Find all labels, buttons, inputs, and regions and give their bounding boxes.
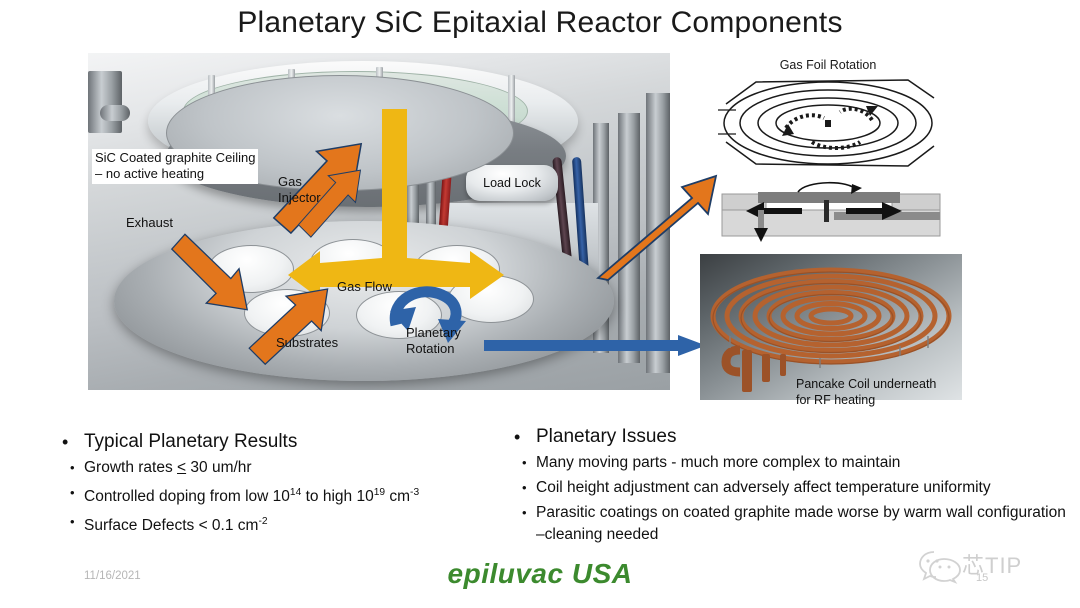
label-gas-injector-line2: Injector [278,190,321,206]
label-planetary-rotation-line2: Rotation [406,341,461,357]
pancake-coil-caption-line2: for RF heating [796,392,976,408]
bullet-heading-left: • Typical Planetary Results [60,430,500,454]
label-gas-injector: Gas Injector [278,174,321,207]
orange-arrow-substrates [244,289,354,379]
bullet-marker: • [60,457,84,479]
list-item: • Surface Defects < 0.1 cm-2 [60,511,500,537]
label-exhaust: Exhaust [126,215,173,231]
list-item: • Controlled doping from low 1014 to hig… [60,482,500,508]
left-heading-text: Typical Planetary Results [84,430,297,454]
page-number: 15 [976,572,988,584]
label-planetary-rotation: Planetary Rotation [406,325,461,358]
left-bullet-column: • Typical Planetary Results • Growth rat… [60,430,500,540]
gas-foil-rotation-diagram [712,76,944,170]
bullet-marker: • [60,430,84,454]
list-item: • Growth rates < 30 um/hr [60,457,500,479]
right-item-0: Many moving parts - much more complex to… [536,452,900,474]
left-item-1: Controlled doping from low 1014 to high … [84,482,419,508]
bullet-marker: • [512,452,536,474]
right-heading-text: Planetary Issues [536,425,676,449]
list-item: • Parasitic coatings on coated graphite … [512,502,1072,546]
pancake-coil-caption-line1: Pancake Coil underneath [796,376,976,392]
bullet-marker: • [512,502,536,524]
label-sic-ceiling-line2: – no active heating [95,166,255,182]
bullet-heading-right: • Planetary Issues [512,425,1072,449]
connector-arrow-blue [484,334,706,358]
pancake-coil-caption: Pancake Coil underneath for RF heating [796,376,976,409]
label-planetary-rotation-line1: Planetary [406,325,461,341]
gas-foil-rotation-title: Gas Foil Rotation [712,58,944,72]
left-item-0: Growth rates < 30 um/hr [84,457,252,479]
label-gas-injector-line1: Gas [278,174,321,190]
label-substrates: Substrates [276,335,338,351]
label-sic-ceiling-line1: SiC Coated graphite Ceiling [95,150,255,166]
list-item: • Coil height adjustment can adversely a… [512,477,1072,499]
left-item-2: Surface Defects < 0.1 cm-2 [84,511,268,537]
slide: Planetary SiC Epitaxial Reactor Componen… [0,0,1080,608]
bullet-marker: • [512,477,536,499]
list-item: • Many moving parts - much more complex … [512,452,1072,474]
left-hardware-block [88,71,122,133]
label-sic-ceiling: SiC Coated graphite Ceiling – no active … [92,149,258,184]
bullet-marker: • [512,425,536,449]
right-bullet-column: • Planetary Issues • Many moving parts -… [512,425,1072,549]
wechat-icon [918,548,962,582]
watermark: 芯TIP 15 [918,546,1068,598]
page-title: Planetary SiC Epitaxial Reactor Componen… [0,6,1080,40]
bullet-marker: • [60,511,84,533]
gas-foil-cross-section-diagram [716,182,946,244]
left-hardware-coil [100,105,130,121]
bullet-marker: • [60,482,84,504]
right-item-2: Parasitic coatings on coated graphite ma… [536,502,1072,546]
watermark-text: 芯TIP [962,548,1022,580]
label-gas-flow: Gas Flow [337,279,392,295]
right-item-1: Coil height adjustment can adversely aff… [536,477,991,499]
